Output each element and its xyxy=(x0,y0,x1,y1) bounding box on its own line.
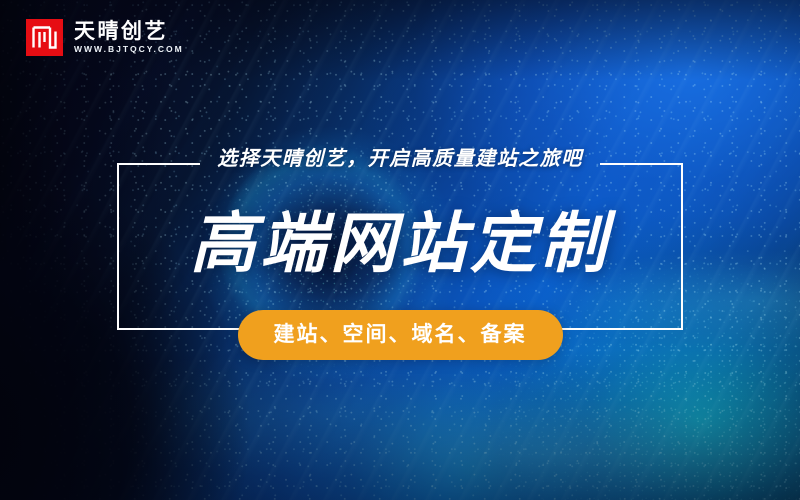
hero-tagline: 选择天晴创艺，开启高质量建站之旅吧 xyxy=(0,149,800,170)
brand-text-block: 天晴创艺 WWW.BJTQCY.COM xyxy=(74,21,184,54)
brand-website: WWW.BJTQCY.COM xyxy=(74,45,184,54)
hero-cta-wrap: 建站、空间、域名、备案 xyxy=(0,310,800,360)
hero-title-text: 高端网站定制 xyxy=(190,207,610,281)
brand-name: 天晴创艺 xyxy=(74,21,184,42)
hero-tagline-text: 选择天晴创艺，开启高质量建站之旅吧 xyxy=(199,149,601,169)
hero-title: 高端网站定制 xyxy=(0,207,800,281)
promo-banner: 天晴创艺 WWW.BJTQCY.COM 选择天晴创艺，开启高质量建站之旅吧 高端… xyxy=(0,0,800,500)
brand-logo[interactable]: 天晴创艺 WWW.BJTQCY.COM xyxy=(26,19,184,56)
services-cta-button[interactable]: 建站、空间、域名、备案 xyxy=(238,310,563,360)
tqcy-monogram-icon xyxy=(26,19,63,56)
